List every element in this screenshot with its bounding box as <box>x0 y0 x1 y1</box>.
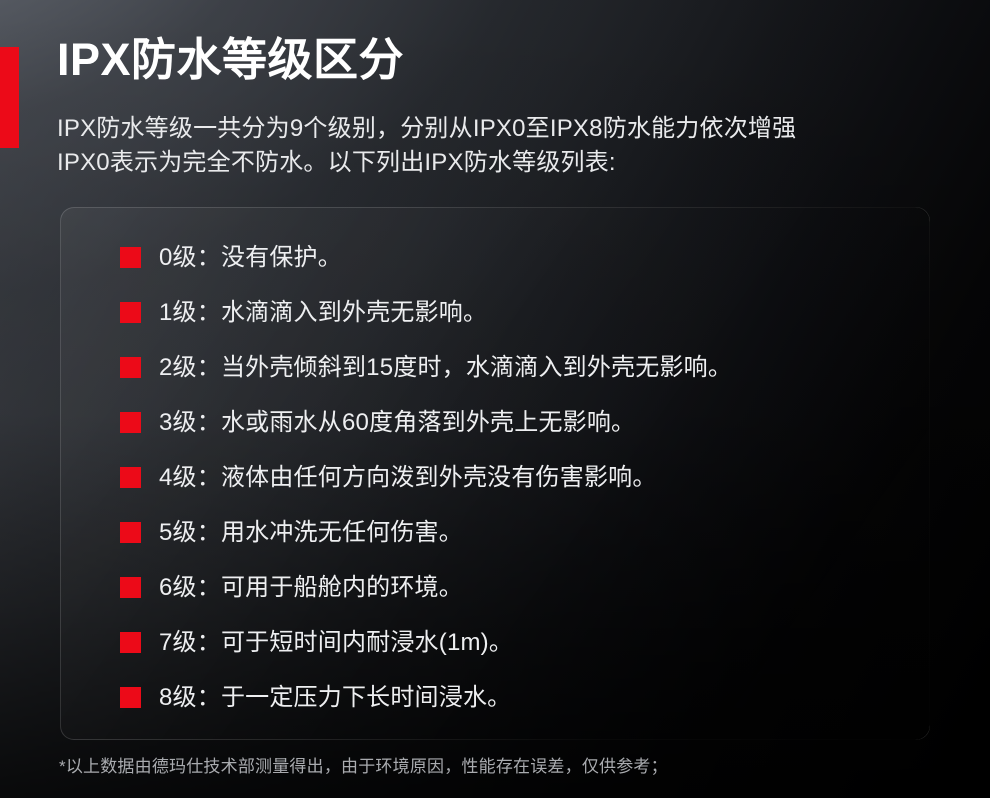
bullet-square-icon <box>120 357 141 378</box>
list-item: 6级：可用于船舱内的环境。 <box>60 560 930 615</box>
page-title: IPX防水等级区分 <box>57 36 404 84</box>
list-item: 3级：水或雨水从60度角落到外壳上无影响。 <box>60 395 930 450</box>
red-accent-bar <box>0 47 19 148</box>
list-item-label: 2级：当外壳倾斜到15度时，水滴滴入到外壳无影响。 <box>159 356 732 380</box>
list-item-label: 3级：水或雨水从60度角落到外壳上无影响。 <box>159 411 635 435</box>
list-item: 2级：当外壳倾斜到15度时，水滴滴入到外壳无影响。 <box>60 340 930 395</box>
list-item: 0级：没有保护。 <box>60 230 930 285</box>
subtitle-block: IPX防水等级一共分为9个级别，分别从IPX0至IPX8防水能力依次增强 IPX… <box>57 112 957 180</box>
list-item-label: 0级：没有保护。 <box>159 246 342 270</box>
bullet-square-icon <box>120 522 141 543</box>
levels-list: 0级：没有保护。 1级：水滴滴入到外壳无影响。 2级：当外壳倾斜到15度时，水滴… <box>60 230 930 725</box>
list-item-label: 8级：于一定压力下长时间浸水。 <box>159 686 511 710</box>
subtitle-line-2: IPX0表示为完全不防水。以下列出IPX防水等级列表: <box>57 146 957 180</box>
list-item-label: 4级：液体由任何方向泼到外壳没有伤害影响。 <box>159 466 657 490</box>
bullet-square-icon <box>120 467 141 488</box>
ipx-rating-poster: IPX防水等级区分 IPX防水等级一共分为9个级别，分别从IPX0至IPX8防水… <box>0 0 990 798</box>
subtitle-line-1: IPX防水等级一共分为9个级别，分别从IPX0至IPX8防水能力依次增强 <box>57 112 957 146</box>
list-item-label: 7级：可于短时间内耐浸水(1m)。 <box>159 631 513 655</box>
list-item-label: 6级：可用于船舱内的环境。 <box>159 576 463 600</box>
bullet-square-icon <box>120 302 141 323</box>
list-item-label: 5级：用水冲洗无任何伤害。 <box>159 521 463 545</box>
list-item: 1级：水滴滴入到外壳无影响。 <box>60 285 930 340</box>
bullet-square-icon <box>120 247 141 268</box>
list-item: 7级：可于短时间内耐浸水(1m)。 <box>60 615 930 670</box>
bullet-square-icon <box>120 687 141 708</box>
list-item: 8级：于一定压力下长时间浸水。 <box>60 670 930 725</box>
bullet-square-icon <box>120 632 141 653</box>
bullet-square-icon <box>120 577 141 598</box>
poster-content: IPX防水等级区分 IPX防水等级一共分为9个级别，分别从IPX0至IPX8防水… <box>0 0 990 798</box>
list-item: 5级：用水冲洗无任何伤害。 <box>60 505 930 560</box>
footnote: *以上数据由德玛仕技术部测量得出，由于环境原因，性能存在误差，仅供参考； <box>59 758 668 775</box>
list-item: 4级：液体由任何方向泼到外壳没有伤害影响。 <box>60 450 930 505</box>
bullet-square-icon <box>120 412 141 433</box>
list-item-label: 1级：水滴滴入到外壳无影响。 <box>159 301 487 325</box>
